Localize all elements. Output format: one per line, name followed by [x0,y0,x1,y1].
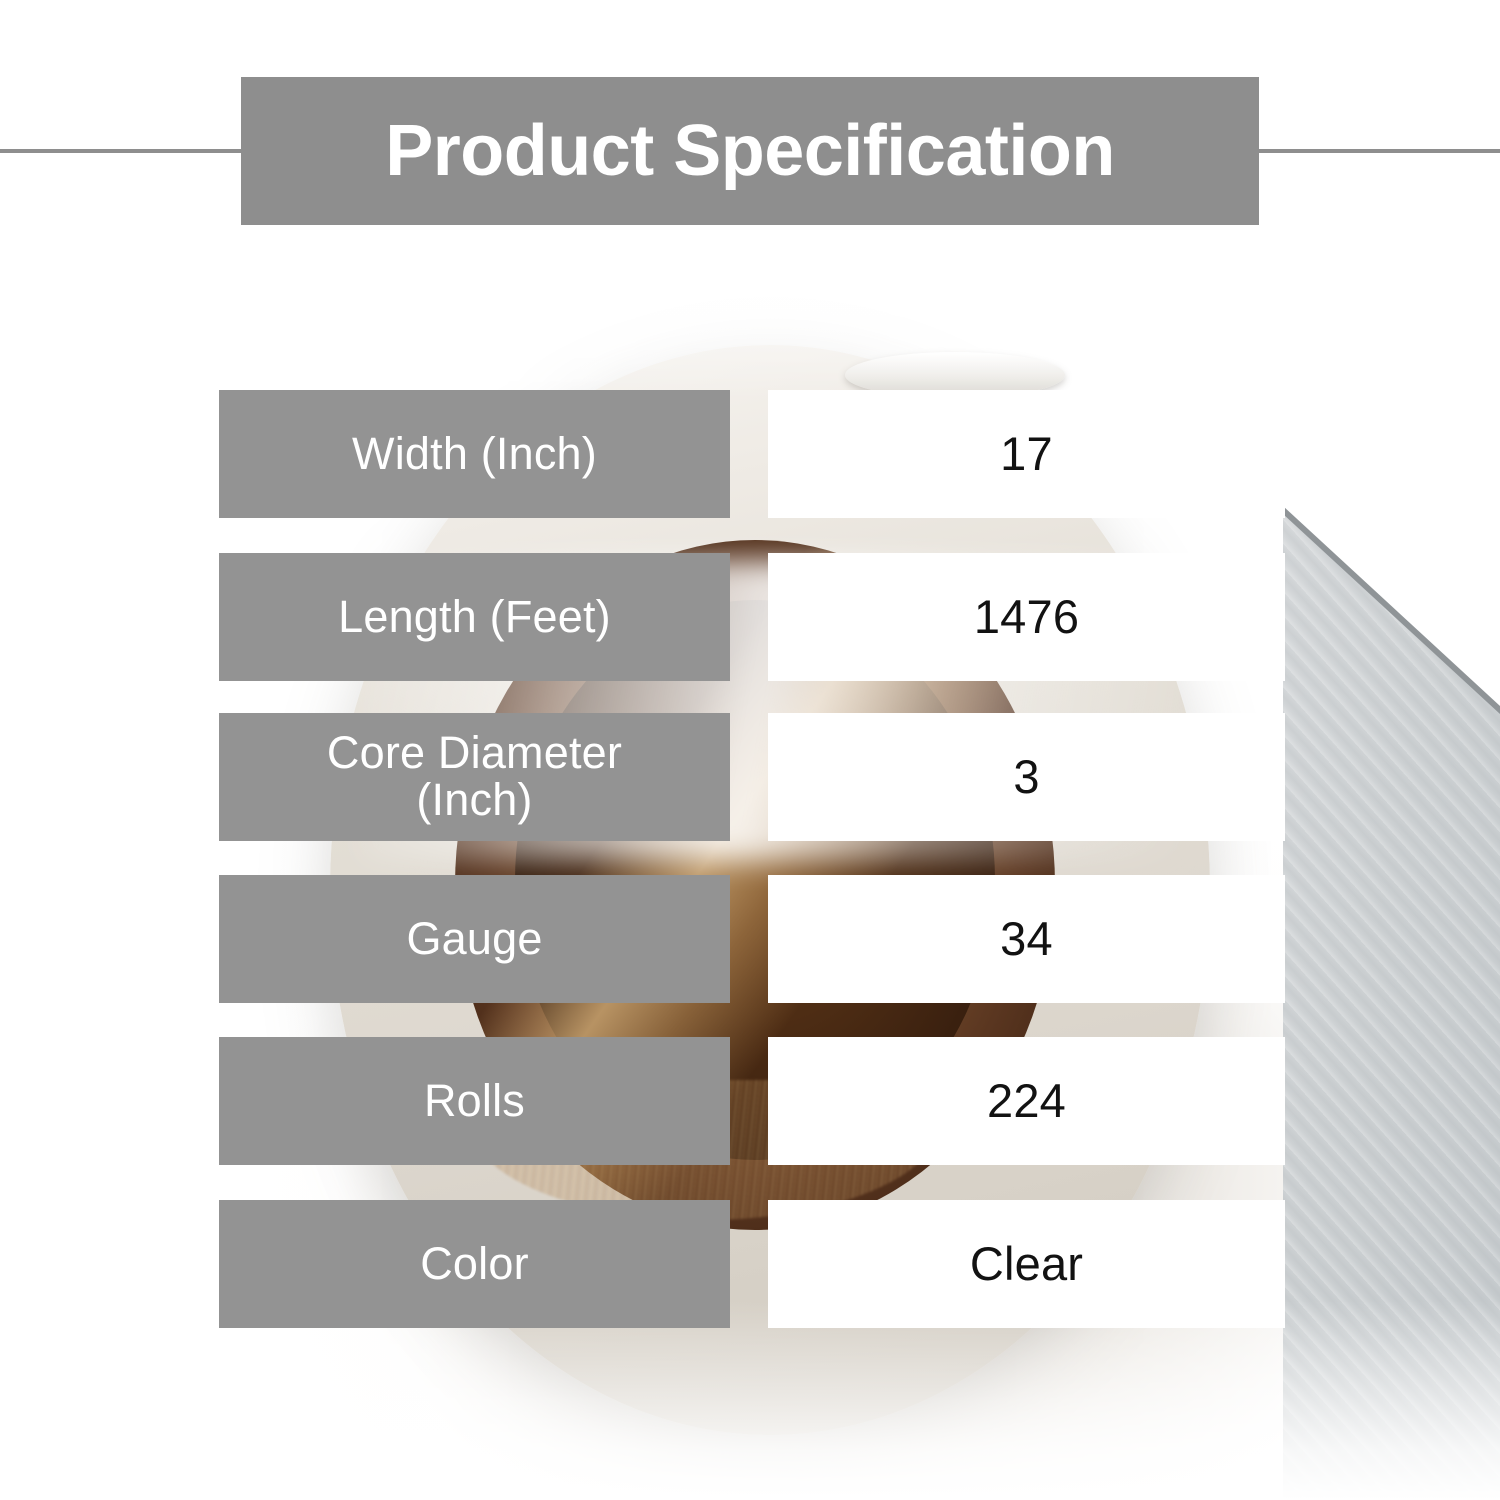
spec-value-cell: 1476 [768,553,1285,681]
spec-value-text: 224 [987,1077,1066,1126]
spec-label-text: Color [420,1241,529,1288]
specification-table: Width (Inch) 17 Length (Feet) 1476 Core … [0,0,1500,1500]
spec-label-text: Width (Inch) [352,431,597,478]
spec-value-text: Clear [970,1240,1083,1289]
spec-value-cell: 34 [768,875,1285,1003]
spec-value-cell: 17 [768,390,1285,518]
spec-label-text: Core Diameter(Inch) [327,730,622,824]
product-specification-page: Product Specification Width (Inch) 17 Le… [0,0,1500,1500]
spec-label-cell: Gauge [219,875,730,1003]
spec-label-cell: Width (Inch) [219,390,730,518]
spec-label-cell: Core Diameter(Inch) [219,713,730,841]
spec-label-text: Gauge [406,916,542,963]
spec-label-cell: Rolls [219,1037,730,1165]
spec-label-text: Length (Feet) [338,594,611,641]
spec-label-cell: Color [219,1200,730,1328]
spec-value-text: 1476 [974,593,1079,642]
spec-value-cell: 224 [768,1037,1285,1165]
spec-label-cell: Length (Feet) [219,553,730,681]
spec-value-text: 17 [1000,430,1053,479]
spec-value-cell: Clear [768,1200,1285,1328]
spec-label-text: Rolls [424,1078,525,1125]
spec-value-text: 34 [1000,915,1053,964]
spec-value-text: 3 [1013,753,1039,802]
spec-value-cell: 3 [768,713,1285,841]
